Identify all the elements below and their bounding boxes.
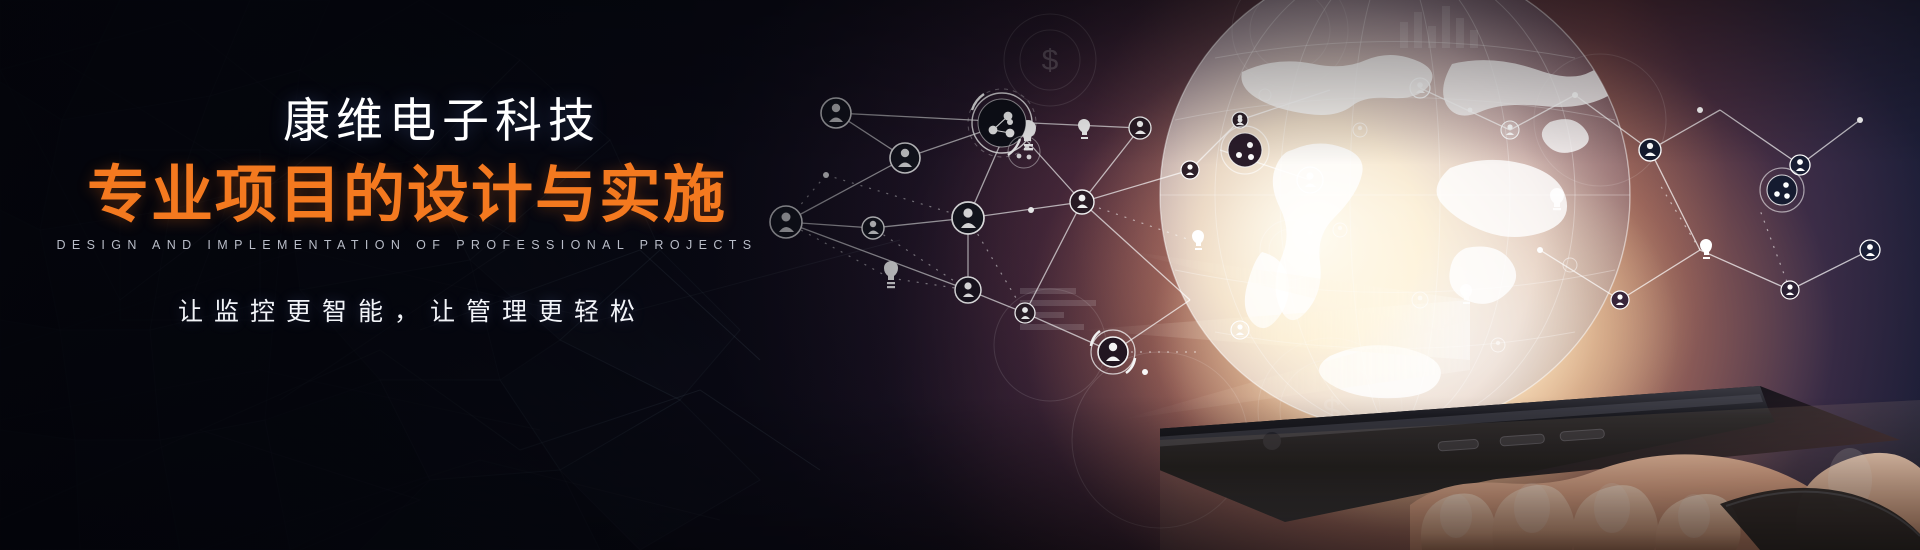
company-title: 康维电子科技 — [0, 96, 800, 146]
hero-text-block: 康维电子科技 专业项目的设计与实施 DESIGN AND IMPLEMENTAT… — [0, 96, 800, 328]
tagline: 让监控更智能，让管理更轻松 — [0, 292, 800, 328]
hero-banner: $ $ — [0, 0, 1920, 550]
main-headline: 专业项目的设计与实施 — [0, 164, 800, 228]
english-subline: DESIGN AND IMPLEMENTATION OF PROFESSIONA… — [0, 238, 800, 252]
